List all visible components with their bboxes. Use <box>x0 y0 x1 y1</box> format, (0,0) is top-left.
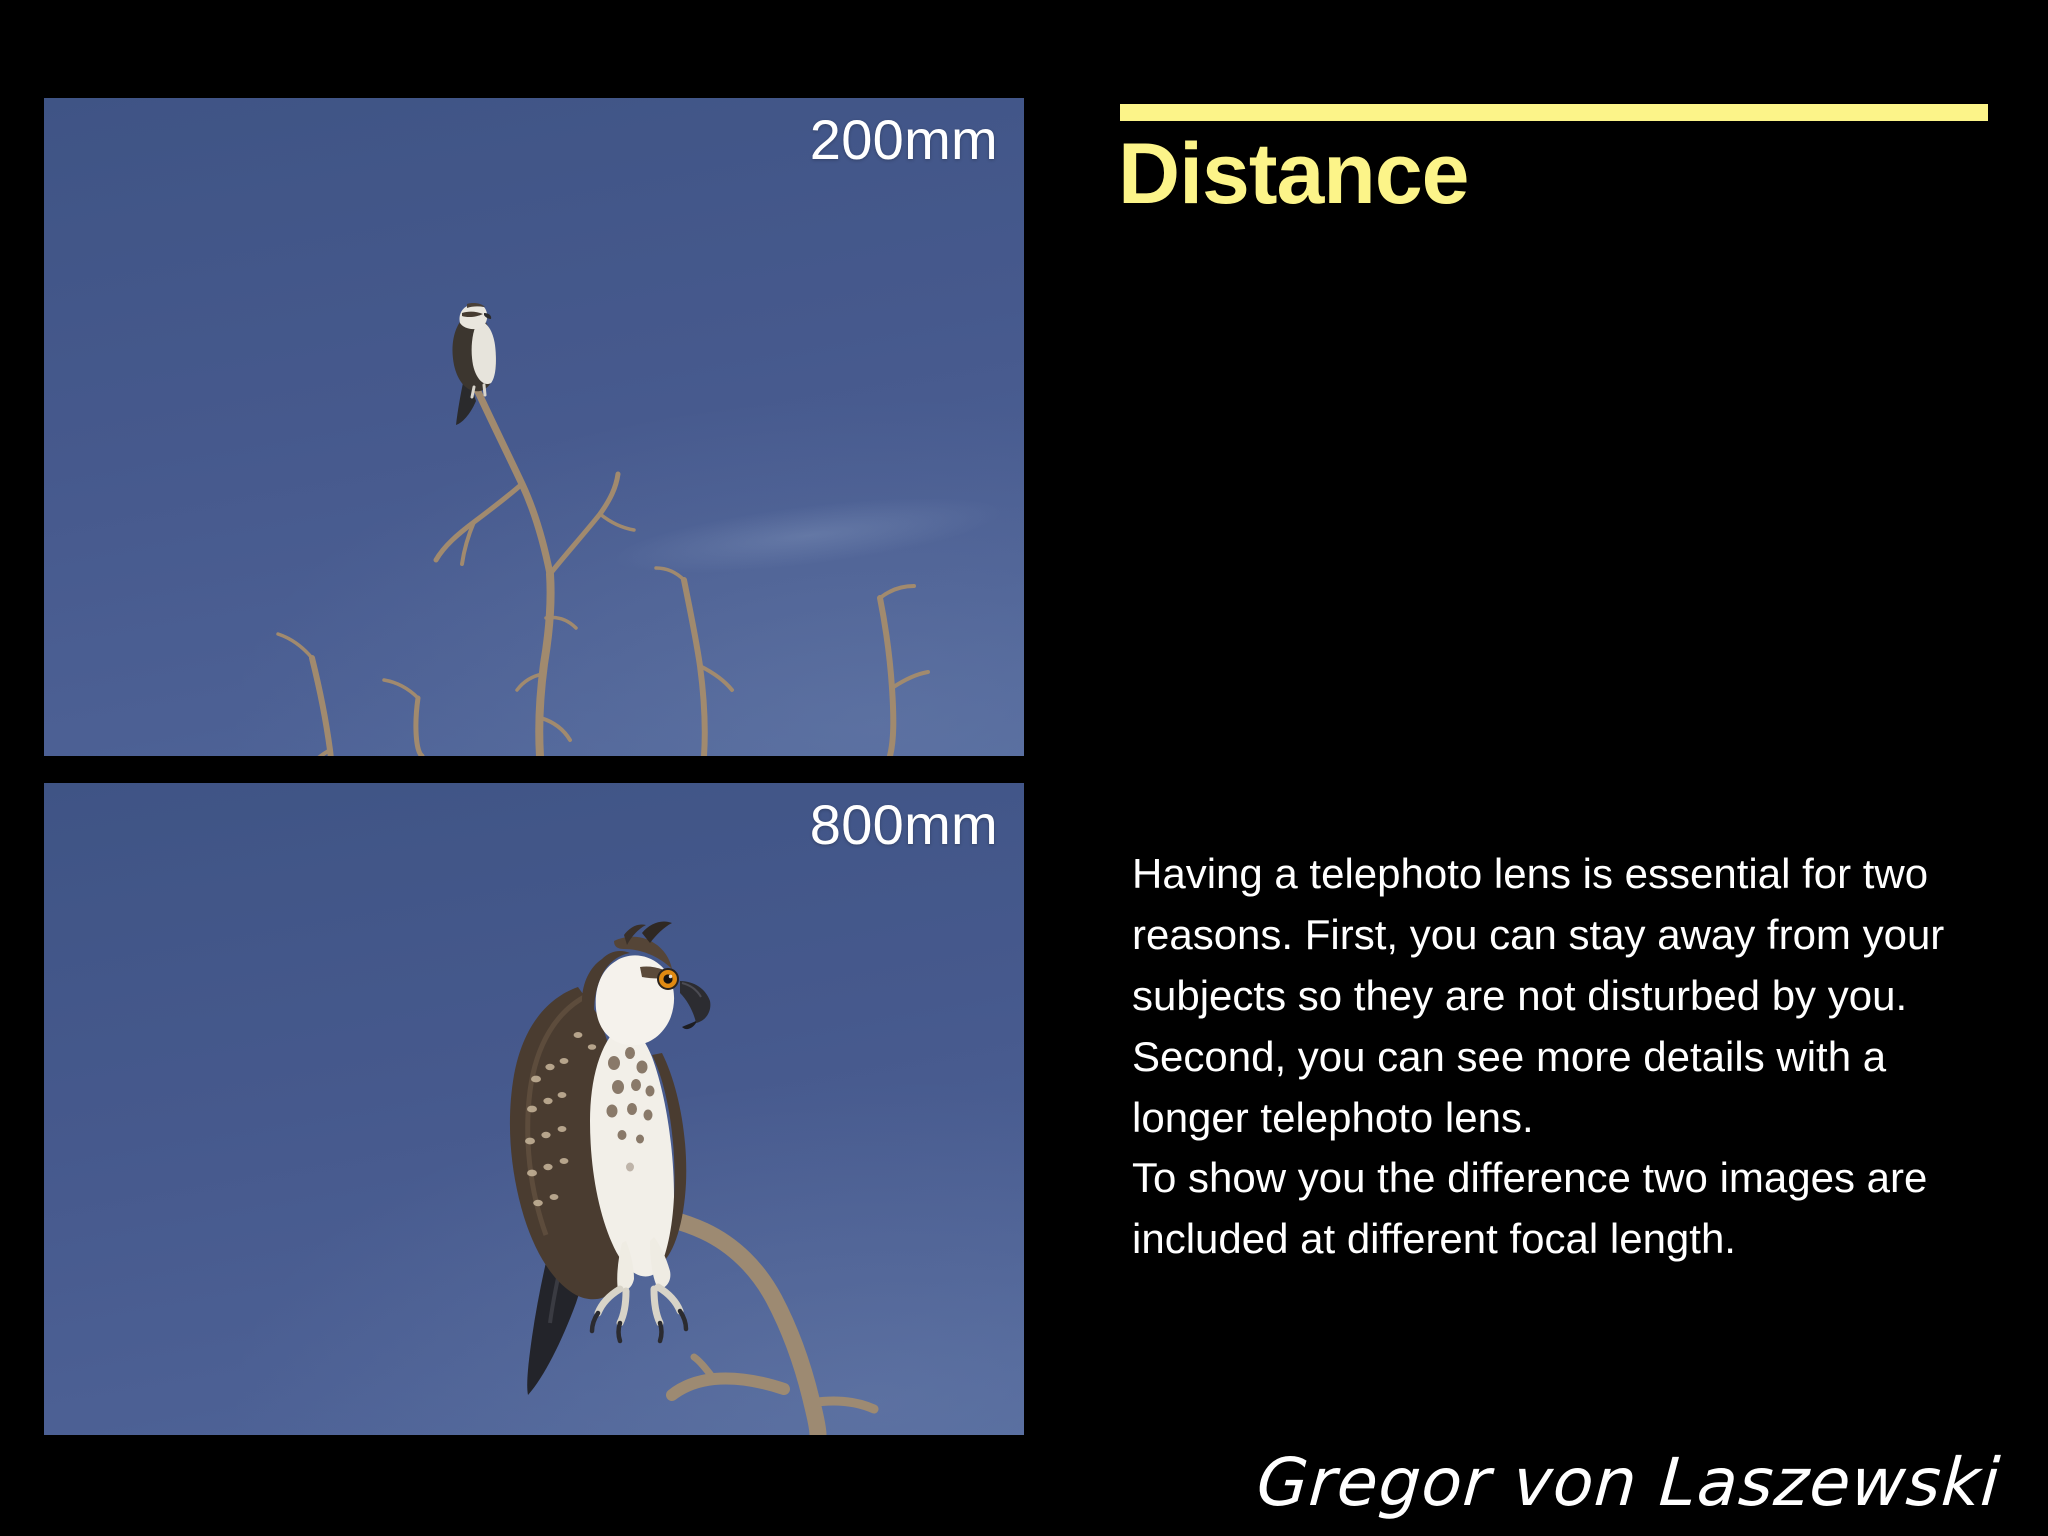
body-text-block: Having a telephoto lens is essential for… <box>1132 844 2012 1270</box>
osprey-wide-scene <box>44 98 1024 756</box>
body-paragraph-1: Having a telephoto lens is essential for… <box>1132 844 2012 1148</box>
title-accent-bar <box>1120 104 1988 121</box>
photo-panel-200mm[interactable]: 200mm <box>44 98 1024 756</box>
author-signature: Gregor von Laszewski <box>1254 1450 2002 1516</box>
body-paragraph-2: To show you the difference two images ar… <box>1132 1148 2012 1270</box>
focal-length-label-800mm: 800mm <box>810 797 998 853</box>
page-title: Distance <box>1118 128 1469 221</box>
osprey-small <box>452 303 496 425</box>
photo-panel-800mm[interactable]: 800mm <box>44 783 1024 1435</box>
osprey-large <box>510 921 710 1395</box>
focal-length-label-200mm: 200mm <box>810 112 998 168</box>
slide-root: 200mm <box>0 0 2048 1536</box>
osprey-closeup-scene <box>44 783 1024 1435</box>
